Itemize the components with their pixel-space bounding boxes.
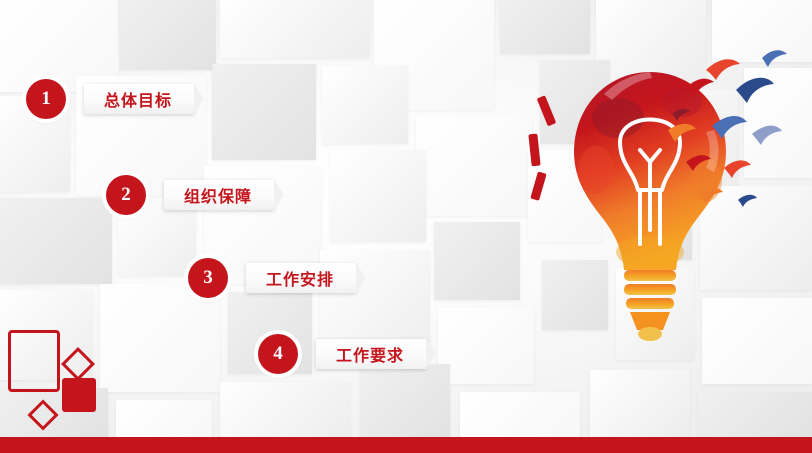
bottom-accent-bar — [0, 437, 812, 453]
agenda-item-1[interactable]: 1 总体目标 — [26, 79, 194, 119]
agenda-number-1: 1 — [26, 79, 66, 119]
agenda-label-plate-4: 工作要求 — [316, 339, 426, 369]
decoration-filled-rect — [62, 378, 96, 412]
slide-canvas: 1 总体目标 2 组织保障 3 工作安排 4 工作要求 — [0, 0, 812, 453]
agenda-number-2: 2 — [106, 175, 146, 215]
spark-rays — [528, 95, 556, 201]
agenda-label-3: 工作安排 — [266, 266, 334, 290]
agenda-number-3: 3 — [188, 258, 228, 298]
decoration-rounded-rect-outline — [8, 330, 60, 392]
agenda-item-2[interactable]: 2 组织保障 — [106, 175, 274, 215]
agenda-label-2: 组织保障 — [184, 183, 252, 207]
agenda-item-3[interactable]: 3 工作安排 — [188, 258, 356, 298]
agenda-label-plate-2: 组织保障 — [164, 180, 274, 210]
agenda-number-4: 4 — [258, 334, 298, 374]
agenda-label-1: 总体目标 — [104, 87, 172, 111]
agenda-label-plate-3: 工作安排 — [246, 263, 356, 293]
bulb-base — [624, 270, 676, 341]
lightbulb-artwork — [500, 30, 800, 390]
agenda-label-4: 工作要求 — [336, 342, 404, 366]
agenda-label-plate-1: 总体目标 — [84, 84, 194, 114]
agenda-item-4[interactable]: 4 工作要求 — [258, 334, 426, 374]
